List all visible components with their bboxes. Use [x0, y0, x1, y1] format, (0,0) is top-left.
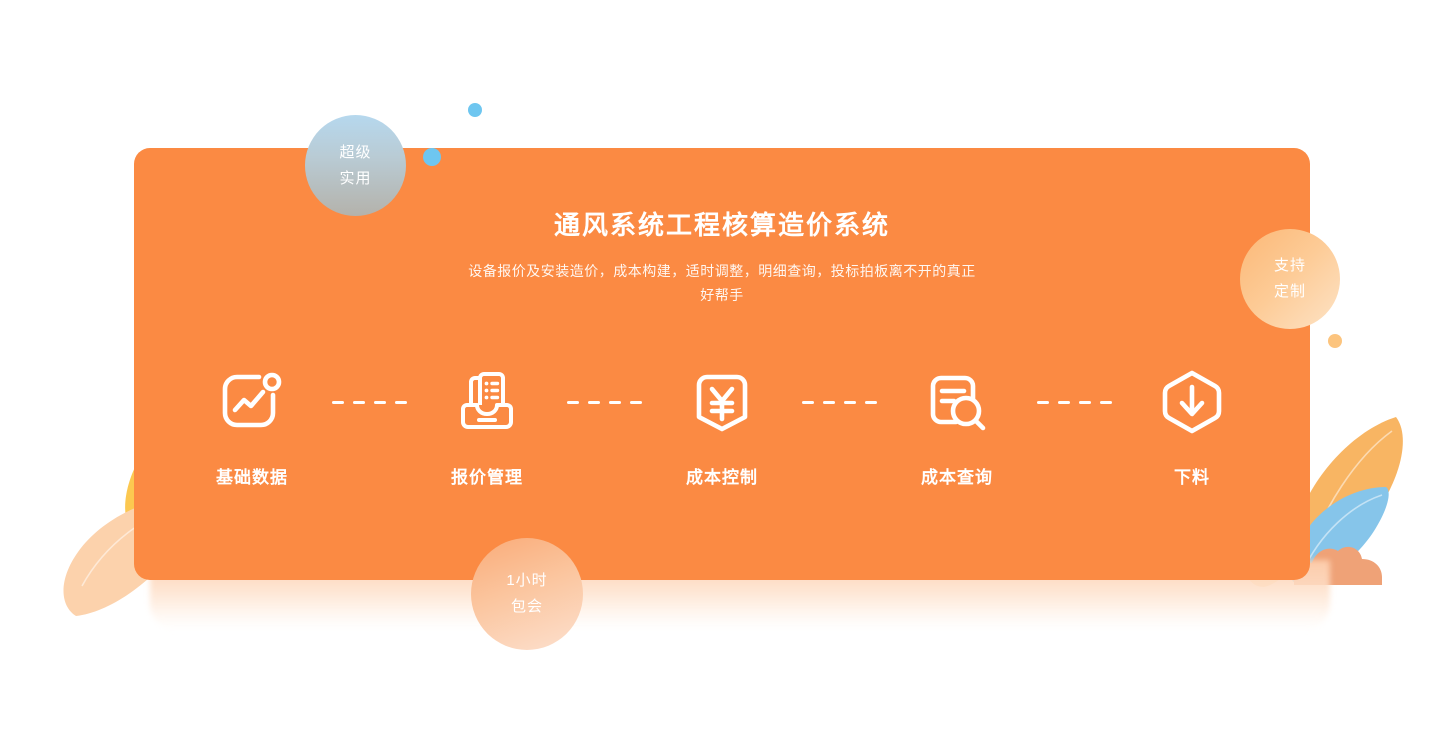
badge-line-1: 支持	[1274, 253, 1306, 279]
chart-square-icon	[213, 363, 291, 441]
badge-line-2: 定制	[1274, 279, 1306, 305]
inbox-document-icon	[448, 363, 526, 441]
feature-label: 成本查询	[921, 463, 993, 488]
connector-dashes	[1015, 401, 1134, 404]
blue-dot-small	[468, 103, 482, 117]
headline-block: 通风系统工程核算造价系统 设备报价及安装造价，成本构建，适时调整，明细查询，投标…	[134, 210, 1310, 307]
yuan-badge-icon	[683, 363, 761, 441]
feature-list: 基础数据	[194, 363, 1250, 488]
connector-dashes	[545, 401, 664, 404]
document-search-icon	[918, 363, 996, 441]
badge-line-1: 1小时	[506, 568, 547, 594]
blue-dot-large	[423, 148, 441, 166]
badge-line-2: 包会	[511, 594, 543, 620]
feature-item-basic-data[interactable]: 基础数据	[194, 363, 310, 488]
badge-line-2: 实用	[339, 166, 371, 192]
feature-item-cost-control[interactable]: 成本控制	[664, 363, 780, 488]
badge-one-hour-training[interactable]: 1小时 包会	[471, 538, 583, 650]
page-subtitle: 设备报价及安装造价，成本构建，适时调整，明细查询，投标拍板离不开的真正好帮手	[462, 259, 982, 307]
feature-item-cost-query[interactable]: 成本查询	[899, 363, 1015, 488]
feature-label: 成本控制	[686, 463, 758, 488]
orange-dot	[1328, 334, 1342, 348]
badge-supports-customization[interactable]: 支持 定制	[1240, 229, 1340, 329]
feature-label: 基础数据	[216, 463, 288, 488]
feature-item-cutting[interactable]: 下料	[1134, 363, 1250, 488]
feature-label: 报价管理	[451, 463, 523, 488]
page-title: 通风系统工程核算造价系统	[134, 210, 1310, 241]
badge-super-practical[interactable]: 超级 实用	[305, 115, 406, 216]
feature-card: 通风系统工程核算造价系统 设备报价及安装造价，成本构建，适时调整，明细查询，投标…	[134, 148, 1310, 580]
hexagon-download-icon	[1153, 363, 1231, 441]
connector-dashes	[310, 401, 429, 404]
page-root: 通风系统工程核算造价系统 设备报价及安装造价，成本构建，适时调整，明细查询，投标…	[0, 0, 1440, 730]
badge-line-1: 超级	[339, 140, 371, 166]
feature-label: 下料	[1174, 463, 1210, 488]
connector-dashes	[780, 401, 899, 404]
feature-item-quote-management[interactable]: 报价管理	[429, 363, 545, 488]
